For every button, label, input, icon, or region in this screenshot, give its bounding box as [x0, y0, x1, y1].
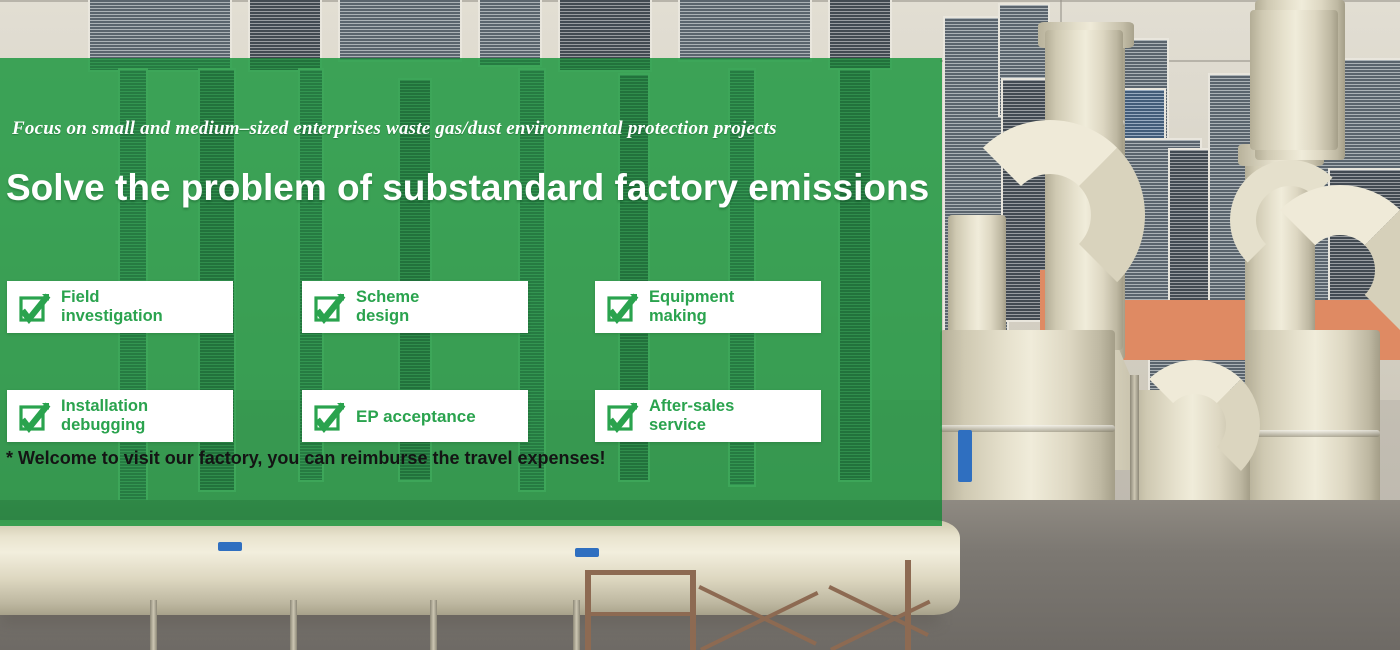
- checked-checkbox-icon: [17, 290, 51, 324]
- banner-content: Focus on small and medium–sized enterpri…: [0, 58, 942, 526]
- scaffold-frame: [585, 570, 591, 650]
- feature-label: After-sales service: [649, 397, 734, 435]
- duct-support-post: [430, 600, 437, 650]
- tower-label-tag: [958, 430, 972, 482]
- building-window: [680, 0, 810, 60]
- duct-elbow: [1130, 360, 1260, 490]
- scaffold-frame: [905, 560, 911, 650]
- feature-label: Equipment making: [649, 288, 734, 326]
- checked-checkbox-icon: [312, 290, 346, 324]
- feature-item-installation-debugging[interactable]: Installation debugging: [7, 390, 233, 442]
- duct-support-post: [150, 600, 157, 650]
- checked-checkbox-icon: [605, 290, 639, 324]
- feature-label: Scheme design: [356, 288, 419, 326]
- duct-label-tag: [218, 542, 242, 551]
- feature-item-scheme-design[interactable]: Scheme design: [302, 281, 528, 333]
- duct-support-post: [290, 600, 297, 650]
- duct-support-post: [573, 600, 580, 650]
- feature-item-field-investigation[interactable]: Field investigation: [7, 281, 233, 333]
- feature-item-equipment-making[interactable]: Equipment making: [595, 281, 821, 333]
- feature-label: Field investigation: [61, 288, 163, 326]
- duct-ring: [1245, 430, 1380, 437]
- checked-checkbox-icon: [312, 399, 346, 433]
- scaffold-frame: [690, 570, 696, 650]
- scrubber-tower: [1250, 10, 1338, 150]
- checked-checkbox-icon: [17, 399, 51, 433]
- checked-checkbox-icon: [605, 399, 639, 433]
- banner-note: * Welcome to visit our factory, you can …: [6, 448, 926, 469]
- main-horizontal-duct: [0, 520, 960, 615]
- promo-banner: Focus on small and medium–sized enterpri…: [0, 0, 1400, 650]
- feature-label: EP acceptance: [356, 407, 476, 426]
- feature-item-ep-acceptance[interactable]: EP acceptance: [302, 390, 528, 442]
- building-window: [340, 0, 460, 60]
- building-window: [480, 0, 540, 65]
- feature-item-after-sales-service[interactable]: After-sales service: [595, 390, 821, 442]
- duct-label-tag: [575, 548, 599, 557]
- feature-label: Installation debugging: [61, 397, 148, 435]
- scaffold-frame: [585, 570, 696, 575]
- scaffold-frame: [585, 612, 696, 616]
